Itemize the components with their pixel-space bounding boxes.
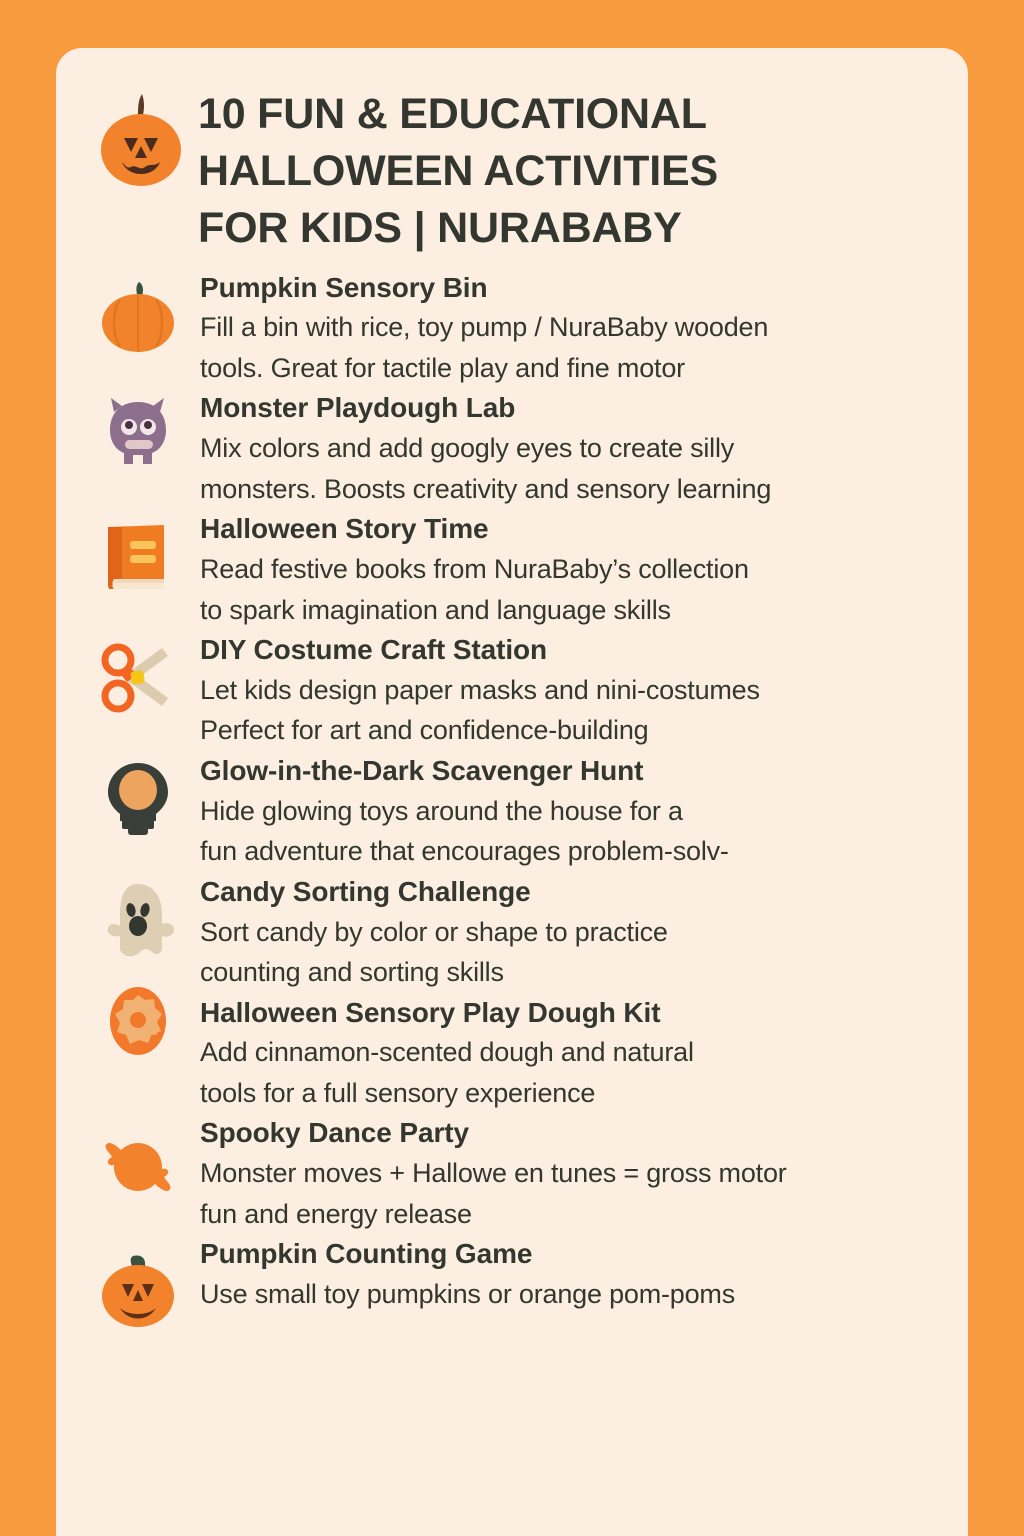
poster-header: 10 FUN & EDUCATIONAL HALLOWEEN ACTIVITIE… <box>56 48 968 258</box>
activity-title: Pumpkin Sensory Bin <box>200 270 768 306</box>
desc-line: Add cinnamon-scented dough and natural <box>200 1032 694 1073</box>
infographic-card: 10 FUN & EDUCATIONAL HALLOWEEN ACTIVITIE… <box>56 48 968 1536</box>
desc-line: to spark imagination and language skills <box>200 590 749 631</box>
list-item-body: Candy Sorting Challenge Sort candy by co… <box>200 874 668 993</box>
desc-line: Hide glowing toys around the house for a <box>200 791 729 832</box>
activity-description: Read festive books from NuraBaby’s colle… <box>200 549 749 630</box>
activity-title: Candy Sorting Challenge <box>200 874 668 910</box>
title-line-3: FOR KIDS | NURABABY <box>198 200 718 257</box>
ghost-icon <box>98 880 178 960</box>
list-item: Halloween Sensory Play Dough Kit Add cin… <box>56 995 968 1114</box>
list-item-body: Spooky Dance Party Monster moves + Hallo… <box>200 1115 787 1234</box>
activities-list: Pumpkin Sensory Bin Fill a bin with rice… <box>56 258 968 1331</box>
desc-line: tools for a full sensory experience <box>200 1073 694 1114</box>
smiling-jack-o-lantern-icon <box>98 1250 178 1330</box>
desc-line: Mix colors and add googly eyes to create… <box>200 428 771 469</box>
list-item: Pumpkin Sensory Bin Fill a bin with rice… <box>56 270 968 389</box>
desc-line: counting and sorting skills <box>200 952 668 993</box>
activity-description: Mix colors and add googly eyes to create… <box>200 428 771 509</box>
list-item-body: Halloween Sensory Play Dough Kit Add cin… <box>200 995 694 1114</box>
activity-title: Monster Playdough Lab <box>200 390 771 426</box>
list-item: Halloween Story Time Read festive books … <box>56 511 968 630</box>
desc-line: Read festive books from NuraBaby’s colle… <box>200 549 749 590</box>
desc-line: fun adventure that encourages problem-so… <box>200 831 729 872</box>
list-item-body: DIY Costume Craft Station Let kids desig… <box>200 632 760 751</box>
title-line-1: 10 FUN & EDUCATIONAL <box>198 86 718 143</box>
activity-description: Let kids design paper masks and nini-cos… <box>200 670 760 751</box>
candy-icon <box>98 1125 178 1205</box>
title-line-2: HALLOWEEN ACTIVITIES <box>198 143 718 200</box>
activity-description: Add cinnamon-scented dough and natural t… <box>200 1032 694 1113</box>
list-item: Spooky Dance Party Monster moves + Hallo… <box>56 1115 968 1234</box>
page-title: 10 FUN & EDUCATIONAL HALLOWEEN ACTIVITIE… <box>198 86 718 258</box>
activity-title: Pumpkin Counting Game <box>200 1236 735 1272</box>
desc-line: fun and energy release <box>200 1194 787 1235</box>
pumpkin-icon <box>98 276 178 356</box>
list-item: Monster Playdough Lab Mix colors and add… <box>56 390 968 509</box>
list-item: Pumpkin Counting Game Use small toy pump… <box>56 1236 968 1330</box>
cookie-dough-icon <box>98 981 178 1061</box>
book-icon <box>98 517 178 597</box>
list-item-body: Pumpkin Counting Game Use small toy pump… <box>200 1236 735 1314</box>
list-item-body: Glow-in-the-Dark Scavenger Hunt Hide glo… <box>200 753 729 872</box>
desc-line: Monster moves + Hallowe en tunes = gross… <box>200 1153 787 1194</box>
activity-description: Monster moves + Hallowe en tunes = gross… <box>200 1153 787 1234</box>
list-item: Glow-in-the-Dark Scavenger Hunt Hide glo… <box>56 753 968 872</box>
desc-line: tools. Great for tactile play and fine m… <box>200 348 768 389</box>
scissors-icon <box>98 638 178 718</box>
list-item: Candy Sorting Challenge Sort candy by co… <box>56 874 968 993</box>
jack-o-lantern-icon <box>98 88 184 188</box>
desc-line: Sort candy by color or shape to practice <box>200 912 668 953</box>
activity-title: Halloween Story Time <box>200 511 749 547</box>
activity-description: Fill a bin with rice, toy pump / NuraBab… <box>200 307 768 388</box>
flashlight-icon <box>98 759 178 839</box>
desc-line: Use small toy pumpkins or orange pom-pom… <box>200 1274 735 1315</box>
list-item-body: Halloween Story Time Read festive books … <box>200 511 749 630</box>
activity-title: Spooky Dance Party <box>200 1115 787 1151</box>
monster-icon <box>98 392 178 472</box>
activity-description: Use small toy pumpkins or orange pom-pom… <box>200 1274 735 1315</box>
poster-background: 10 FUN & EDUCATIONAL HALLOWEEN ACTIVITIE… <box>0 0 1024 1536</box>
activity-description: Sort candy by color or shape to practice… <box>200 912 668 993</box>
list-item: DIY Costume Craft Station Let kids desig… <box>56 632 968 751</box>
activity-title: Halloween Sensory Play Dough Kit <box>200 995 694 1031</box>
desc-line: monsters. Boosts creativity and sensory … <box>200 469 771 510</box>
desc-line: Perfect for art and confidence-building <box>200 710 760 751</box>
activity-title: Glow-in-the-Dark Scavenger Hunt <box>200 753 729 789</box>
activity-description: Hide glowing toys around the house for a… <box>200 791 729 872</box>
list-item-body: Monster Playdough Lab Mix colors and add… <box>200 390 771 509</box>
activity-title: DIY Costume Craft Station <box>200 632 760 668</box>
desc-line: Let kids design paper masks and nini-cos… <box>200 670 760 711</box>
desc-line: Fill a bin with rice, toy pump / NuraBab… <box>200 307 768 348</box>
list-item-body: Pumpkin Sensory Bin Fill a bin with rice… <box>200 270 768 389</box>
